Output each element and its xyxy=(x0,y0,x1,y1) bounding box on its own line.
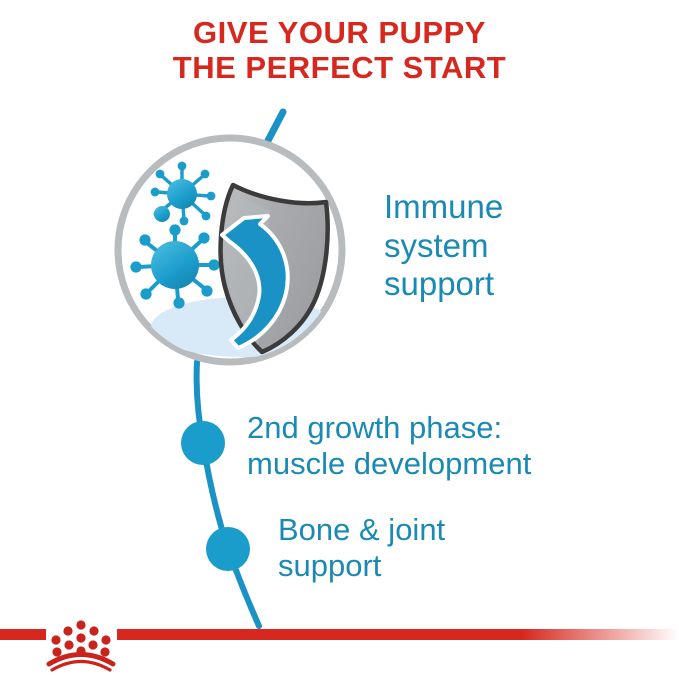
connector-dot-bone xyxy=(206,527,250,571)
feature-label-immune-system-support: Immune system support xyxy=(384,188,503,304)
brand-bar xyxy=(0,620,679,670)
product-feature-infographic: GIVE YOUR PUPPY THE PERFECT START xyxy=(0,0,679,679)
feature-label-bone-and-joint-support: Bone & joint support xyxy=(278,512,445,585)
connector-dot-growth xyxy=(181,421,225,465)
virus-dot xyxy=(154,206,170,222)
feature-label-second-growth-phase: 2nd growth phase: muscle development xyxy=(247,410,531,483)
royal-canin-crown-logo xyxy=(49,620,113,670)
immune-shield-illustration xyxy=(118,138,342,362)
brand-bar-right xyxy=(117,629,679,640)
brand-bar-left xyxy=(0,629,46,640)
